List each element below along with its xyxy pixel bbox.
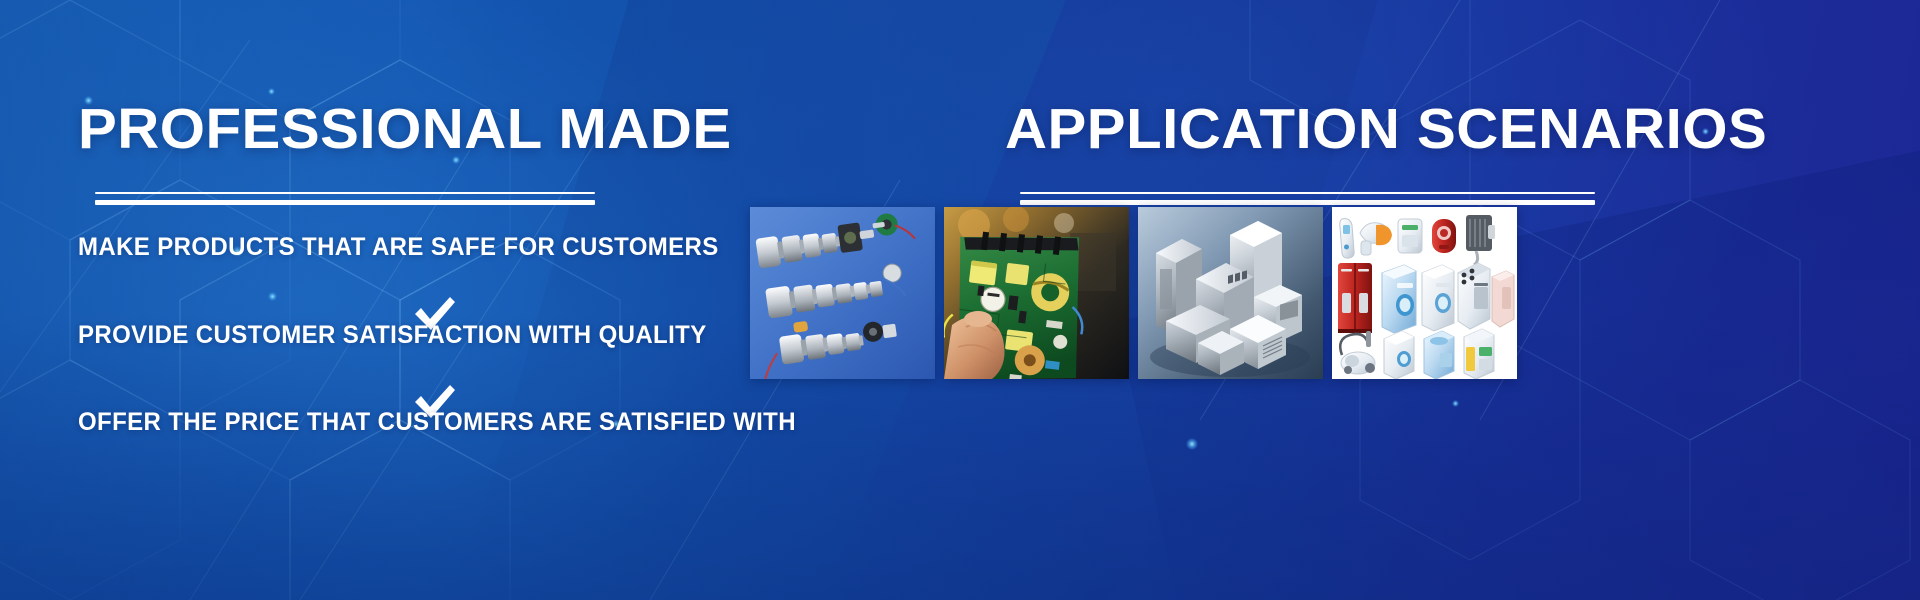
left-title-divider [95,192,595,205]
thumbnail-dc-motors[interactable] [750,207,935,379]
pcb-in-hand-photo [944,207,1129,379]
thumbnail-pcb-in-hand[interactable] [944,207,1129,379]
pcb-illustration [944,207,1129,379]
dc-motors-photo [750,207,935,379]
divider-thick-line [95,200,595,205]
page-title-professional-made: PROFESSIONAL MADE [78,101,732,158]
divider-thin-line [95,192,595,194]
appliances-illustration [1332,207,1517,379]
divider-thick-line [1020,200,1595,205]
divider-thin-line [1020,192,1595,194]
glow-dot [1452,400,1459,407]
page-title-application-scenarios: APPLICATION SCENARIOS [1005,101,1767,158]
thumbnail-home-appliances[interactable] [1332,207,1517,379]
power-supply-units-photo [1138,207,1323,379]
dc-motors-illustration [750,207,935,379]
right-title-divider [1020,192,1595,205]
glow-dot [268,292,277,301]
bullet-item-3: OFFER THE PRICE THAT CUSTOMERS ARE SATIS… [78,410,796,435]
home-appliances-photo [1332,207,1517,379]
glow-dot [268,88,275,95]
glow-dot [1186,438,1198,450]
power-supplies-illustration [1138,207,1323,379]
bullet-item-2: PROVIDE CUSTOMER SATISFACTION WITH QUALI… [78,323,707,348]
thumbnail-strip [750,207,1517,379]
banner-stage: PROFESSIONAL MADE MAKE PRODUCTS THAT ARE… [0,0,1920,600]
thumbnail-power-supplies[interactable] [1138,207,1323,379]
bullet-item-1: MAKE PRODUCTS THAT ARE SAFE FOR CUSTOMER… [78,235,719,260]
